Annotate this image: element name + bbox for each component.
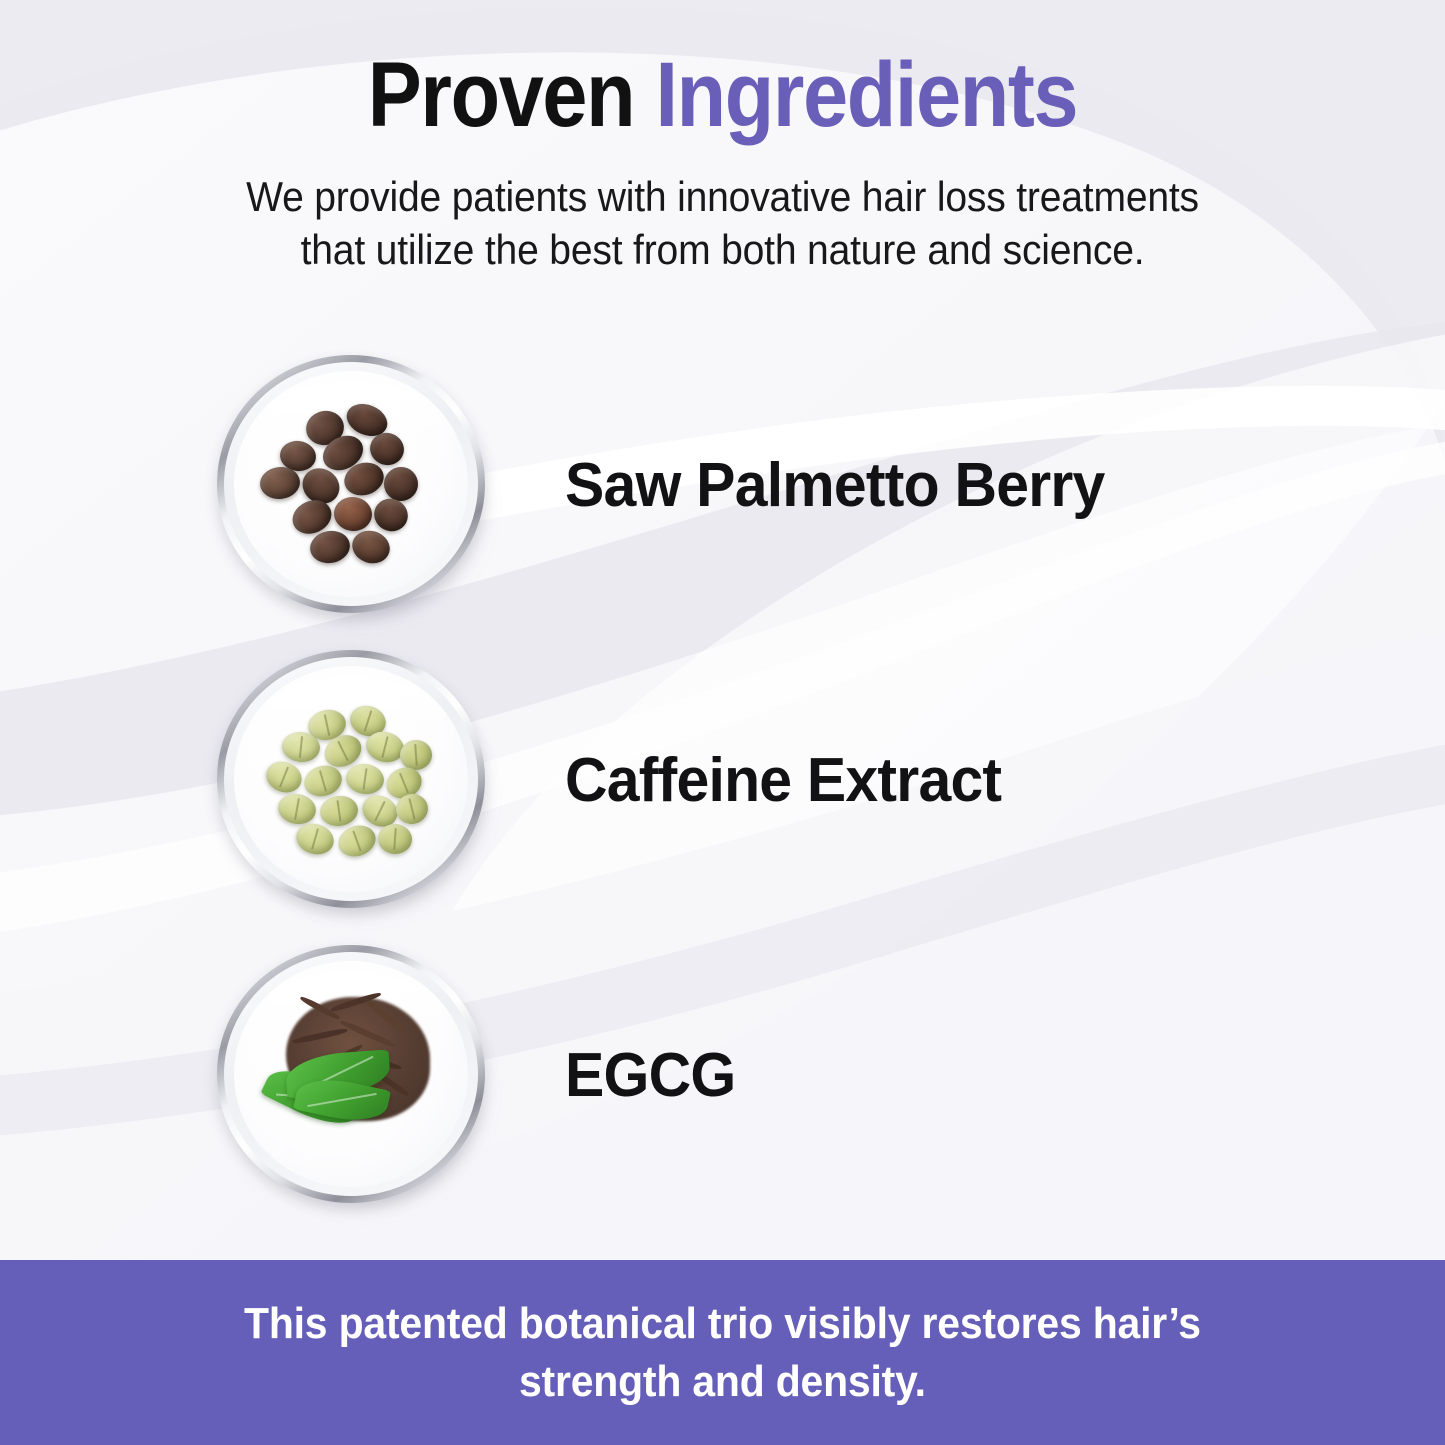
green-coffee-beans-icon [234,666,468,892]
ingredient-row-egcg: EGCG [0,928,1445,1223]
ingredient-row-caffeine-extract: Caffeine Extract [0,633,1445,928]
ingredient-list: Saw Palmetto Berry [0,338,1445,1223]
dish-inner [234,961,468,1187]
title-part-proven: Proven [368,44,656,146]
header: Proven Ingredients We provide patients w… [0,48,1445,277]
subtitle-line-2: that utilize the best from both nature a… [301,226,1145,273]
ingredient-label-egcg: EGCG [565,1040,735,1111]
ingredient-row-saw-palmetto-berry: Saw Palmetto Berry [0,338,1445,633]
tea-leaves-icon [234,961,468,1187]
saw-palmetto-berries-icon [234,371,468,597]
footer-line-2: strength and density. [519,1357,926,1406]
petri-dish-egcg [205,937,505,1215]
subtitle: We provide patients with innovative hair… [51,170,1395,278]
footer-banner-text: This patented botanical trio visibly res… [244,1295,1201,1409]
ingredient-label-caffeine-extract: Caffeine Extract [565,745,1001,816]
subtitle-line-1: We provide patients with innovative hair… [246,173,1199,220]
ingredient-label-saw-palmetto-berry: Saw Palmetto Berry [565,450,1105,521]
dish-inner [234,371,468,597]
title-part-ingredients: Ingredients [655,44,1077,146]
petri-dish-caffeine-extract [205,642,505,920]
petri-dish-saw-palmetto-berry [205,347,505,625]
footer-banner: This patented botanical trio visibly res… [0,1260,1445,1445]
dish-inner [234,666,468,892]
ingredients-infographic: Proven Ingredients We provide patients w… [0,0,1445,1445]
footer-line-1: This patented botanical trio visibly res… [244,1299,1201,1348]
page-title: Proven Ingredients [87,48,1359,144]
